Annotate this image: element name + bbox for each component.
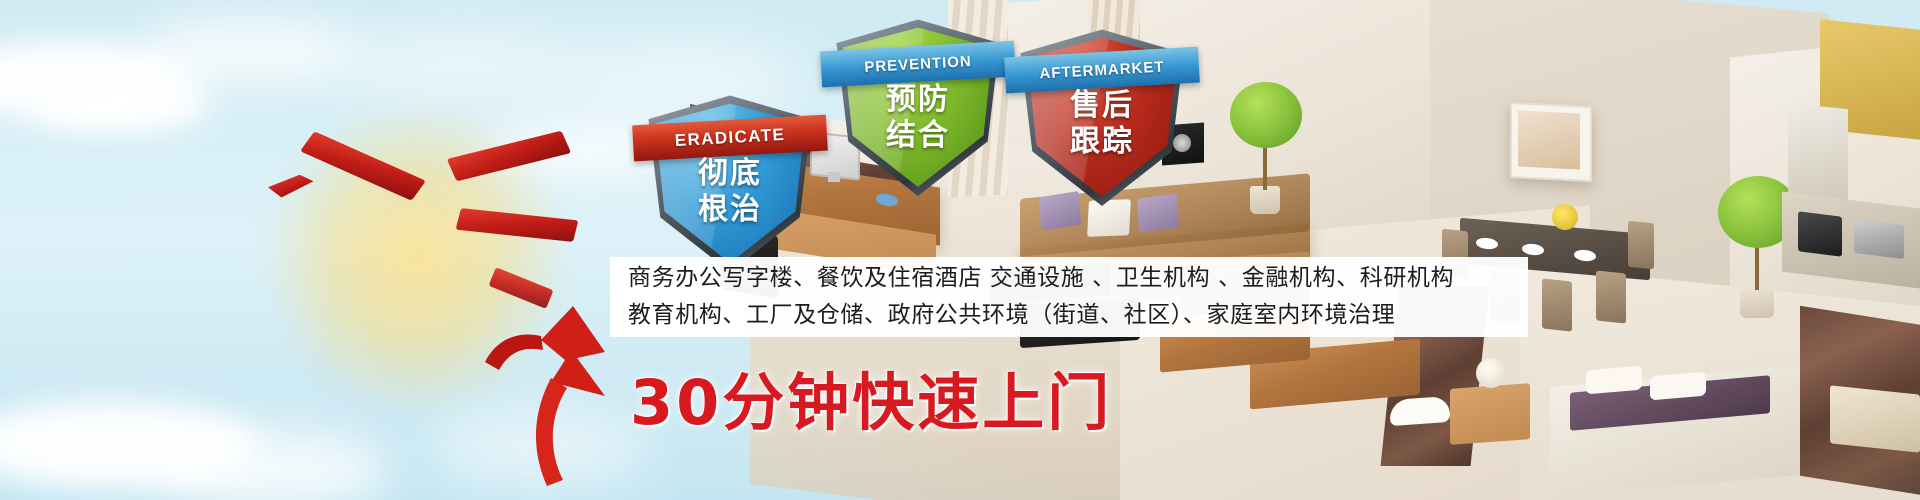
service-scope-panel: 商务办公写字楼、餐饮及住宿酒店 交通设施 、卫生机构 、金融机构、科研机构 教育… [610,257,1528,337]
picture-canvas [1518,110,1580,169]
headline-text: 30分钟快速上门 [630,352,1112,442]
cloud-shape [30,78,210,132]
dining-chair [1542,278,1572,331]
refrigerator [1788,103,1848,205]
pillow [1650,372,1706,401]
service-scope-line-1: 商务办公写字楼、餐饮及住宿酒店 交通设施 、卫生机构 、金融机构、科研机构 [628,260,1510,297]
pillow [1586,366,1642,395]
table-lamp [1476,358,1506,388]
shield-chinese-line-2: 结合 [833,120,1003,151]
shield-badge-eradicate: ERADICATE 彻底 根治 [645,90,815,272]
plant-pot [1740,286,1774,318]
shield-english-label: AFTERMARKET [1039,58,1165,82]
cloud-shape [150,430,390,500]
side-table [1830,385,1920,452]
promo-banner: 3 ERADICATE 彻底 根治 PREVENTION 预防 结合 [0,0,1920,500]
shield-english-label: ERADICATE [674,125,785,151]
dining-chair [1628,221,1654,270]
dining-chair [1596,270,1626,323]
shield-chinese-line-2: 跟踪 [1017,126,1187,157]
shield-badge-prevention: PREVENTION 预防 结合 [833,14,1003,196]
plant-foliage [1230,82,1302,148]
shield-chinese-line-1: 预防 [833,84,1003,115]
cooktop [1854,219,1904,259]
nightstand [1450,383,1530,445]
table-centerpiece [1552,204,1578,230]
plant-pot [1250,186,1280,214]
shield-chinese-line-1: 售后 [1017,90,1187,121]
oven [1798,211,1842,256]
shield-chinese-line-1: 彻底 [645,158,815,189]
shield-english-label: PREVENTION [864,53,972,76]
shield-chinese-line-2: 根治 [645,194,815,225]
shield-badge-aftermarket: AFTERMARKET 售后 跟踪 [1017,24,1187,206]
service-scope-line-2: 教育机构、工厂及仓储、政府公共环境（街道、社区）、家庭室内环境治理 [628,297,1510,334]
